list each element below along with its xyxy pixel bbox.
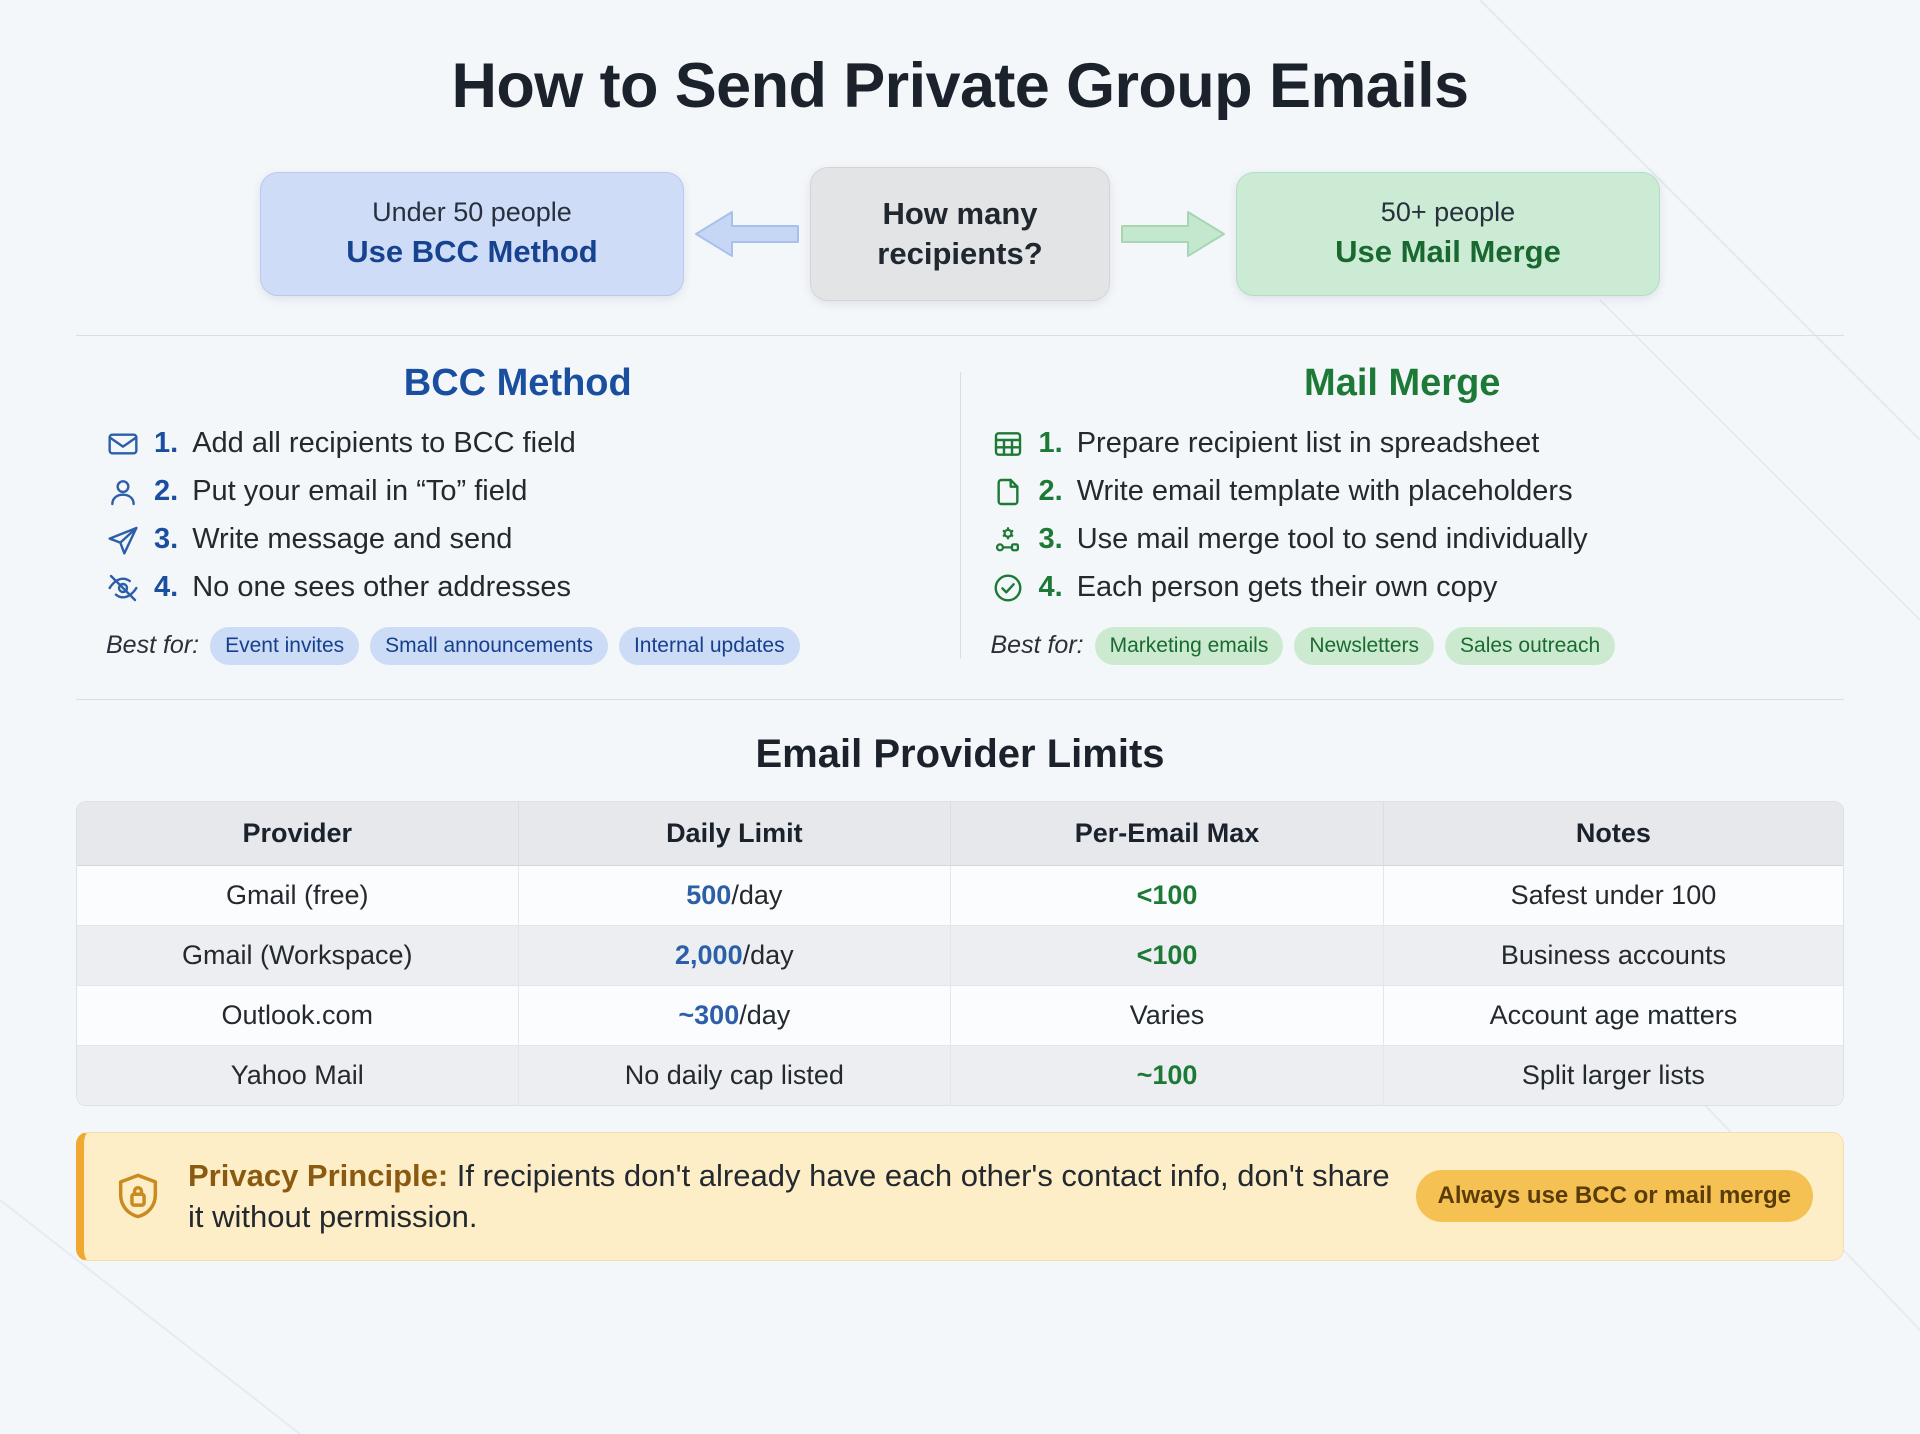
arrow-right-icon xyxy=(1110,197,1236,271)
flow-question-line2: recipients? xyxy=(837,234,1083,274)
table-row: Outlook.com ~300/day Varies Account age … xyxy=(77,986,1843,1046)
step-text: Use mail merge tool to send individually xyxy=(1077,523,1588,556)
step-text: No one sees other addresses xyxy=(192,571,571,604)
list-item: 2. Write email template with placeholder… xyxy=(991,475,1815,509)
status-badge: Marketing emails xyxy=(1095,627,1284,665)
cell-per-email-max: ~100 xyxy=(951,1046,1384,1105)
best-for-label: Best for: xyxy=(106,631,199,660)
cell-provider: Gmail (free) xyxy=(77,866,519,926)
best-for-mailmerge: Best for: Marketing emails Newsletters S… xyxy=(991,627,1815,665)
table-header-row: Provider Daily Limit Per-Email Max Notes xyxy=(77,802,1843,866)
per-email-value: <100 xyxy=(1137,880,1198,910)
table-row: Gmail (free) 500/day <100 Safest under 1… xyxy=(77,866,1843,926)
cell-daily-limit: 2,000/day xyxy=(519,926,952,986)
list-item: 1. Prepare recipient list in spreadsheet xyxy=(991,427,1815,461)
cell-daily-limit: No daily cap listed xyxy=(519,1046,952,1105)
flow-mailmerge-condition: 50+ people xyxy=(1271,195,1625,231)
decision-flow: Under 50 people Use BCC Method How many … xyxy=(76,167,1844,300)
divider-top xyxy=(76,335,1844,336)
status-badge: Event invites xyxy=(210,627,359,665)
step-text: Each person gets their own copy xyxy=(1077,571,1498,604)
cell-notes: Split larger lists xyxy=(1384,1046,1843,1105)
banner-label: Privacy Principle: xyxy=(188,1158,448,1193)
spreadsheet-icon xyxy=(991,427,1025,461)
table-row: Gmail (Workspace) 2,000/day <100 Busines… xyxy=(77,926,1843,986)
daily-limit-value: No daily cap listed xyxy=(625,1060,844,1090)
list-item: 3. Use mail merge tool to send individua… xyxy=(991,523,1815,557)
flow-bcc-action: Use BCC Method xyxy=(295,232,649,273)
cell-per-email-max: Varies xyxy=(951,986,1384,1046)
privacy-principle-banner: Privacy Principle: If recipients don't a… xyxy=(76,1132,1844,1261)
step-number: 1. xyxy=(154,427,178,460)
step-text: Write email template with placeholders xyxy=(1077,475,1573,508)
shield-lock-icon xyxy=(110,1168,166,1224)
status-badge: Small announcements xyxy=(370,627,608,665)
cell-provider: Outlook.com xyxy=(77,986,519,1046)
column-header-notes: Notes xyxy=(1384,802,1843,866)
flow-box-bcc: Under 50 people Use BCC Method xyxy=(260,172,684,297)
daily-limit-value: 500 xyxy=(686,880,731,910)
status-badge: Internal updates xyxy=(619,627,800,665)
flow-box-question: How many recipients? xyxy=(810,167,1110,300)
cell-per-email-max: <100 xyxy=(951,866,1384,926)
steps-list-mailmerge: 1. Prepare recipient list in spreadsheet… xyxy=(991,427,1815,605)
flow-bcc-condition: Under 50 people xyxy=(295,195,649,231)
table-row: Yahoo Mail No daily cap listed ~100 Spli… xyxy=(77,1046,1843,1105)
methods-section: BCC Method 1. Add all recipients to BCC … xyxy=(76,362,1844,665)
column-header-daily-limit: Daily Limit xyxy=(519,802,952,866)
step-text: Prepare recipient list in spreadsheet xyxy=(1077,427,1540,460)
flow-box-mailmerge: 50+ people Use Mail Merge xyxy=(1236,172,1660,297)
step-number: 3. xyxy=(1039,523,1063,556)
list-item: 3. Write message and send xyxy=(106,523,930,557)
send-icon xyxy=(106,523,140,557)
infographic-page: How to Send Private Group Emails Under 5… xyxy=(0,0,1920,1434)
status-badge: Sales outreach xyxy=(1445,627,1615,665)
list-item: 4. Each person gets their own copy xyxy=(991,571,1815,605)
per-email-value: <100 xyxy=(1137,940,1198,970)
document-icon xyxy=(991,475,1025,509)
eye-off-icon xyxy=(106,571,140,605)
cell-daily-limit: 500/day xyxy=(519,866,952,926)
cell-notes: Account age matters xyxy=(1384,986,1843,1046)
steps-list-bcc: 1. Add all recipients to BCC field 2. Pu… xyxy=(106,427,930,605)
banner-text: Privacy Principle: If recipients don't a… xyxy=(188,1155,1394,1238)
cell-daily-limit: ~300/day xyxy=(519,986,952,1046)
daily-limit-value: ~300 xyxy=(678,1000,739,1030)
page-title: How to Send Private Group Emails xyxy=(76,52,1844,121)
list-item: 1. Add all recipients to BCC field xyxy=(106,427,930,461)
arrow-left-icon xyxy=(684,197,810,271)
method-title-mailmerge: Mail Merge xyxy=(991,362,1815,405)
step-text: Add all recipients to BCC field xyxy=(192,427,576,460)
cell-per-email-max: <100 xyxy=(951,926,1384,986)
step-number: 4. xyxy=(1039,571,1063,604)
method-column-mailmerge: Mail Merge 1. Prepare recipient list in … xyxy=(961,362,1845,665)
flow-mailmerge-action: Use Mail Merge xyxy=(1271,232,1625,273)
status-badge: Newsletters xyxy=(1294,627,1434,665)
banner-pill-badge: Always use BCC or mail merge xyxy=(1416,1170,1813,1222)
daily-limit-suffix: /day xyxy=(731,880,782,910)
method-column-bcc: BCC Method 1. Add all recipients to BCC … xyxy=(76,362,960,665)
list-item: 2. Put your email in “To” field xyxy=(106,475,930,509)
cell-notes: Business accounts xyxy=(1384,926,1843,986)
best-for-bcc: Best for: Event invites Small announceme… xyxy=(106,627,930,665)
step-number: 2. xyxy=(154,475,178,508)
daily-limit-suffix: /day xyxy=(739,1000,790,1030)
envelope-icon xyxy=(106,427,140,461)
cell-provider: Yahoo Mail xyxy=(77,1046,519,1105)
merge-settings-icon xyxy=(991,523,1025,557)
list-item: 4. No one sees other addresses xyxy=(106,571,930,605)
method-title-bcc: BCC Method xyxy=(106,362,930,405)
daily-limit-value: 2,000 xyxy=(675,940,743,970)
best-for-label: Best for: xyxy=(991,631,1084,660)
column-header-per-email-max: Per-Email Max xyxy=(951,802,1384,866)
person-icon xyxy=(106,475,140,509)
per-email-value: ~100 xyxy=(1137,1060,1198,1090)
step-number: 3. xyxy=(154,523,178,556)
daily-limit-suffix: /day xyxy=(743,940,794,970)
step-text: Write message and send xyxy=(192,523,512,556)
cell-notes: Safest under 100 xyxy=(1384,866,1843,926)
step-text: Put your email in “To” field xyxy=(192,475,527,508)
column-header-provider: Provider xyxy=(77,802,519,866)
cell-provider: Gmail (Workspace) xyxy=(77,926,519,986)
divider-bottom xyxy=(76,699,1844,700)
check-circle-icon xyxy=(991,571,1025,605)
step-number: 4. xyxy=(154,571,178,604)
step-number: 1. xyxy=(1039,427,1063,460)
step-number: 2. xyxy=(1039,475,1063,508)
provider-limits-table: Provider Daily Limit Per-Email Max Notes… xyxy=(76,801,1844,1106)
flow-question-line1: How many xyxy=(837,194,1083,234)
table-title: Email Provider Limits xyxy=(76,732,1844,777)
